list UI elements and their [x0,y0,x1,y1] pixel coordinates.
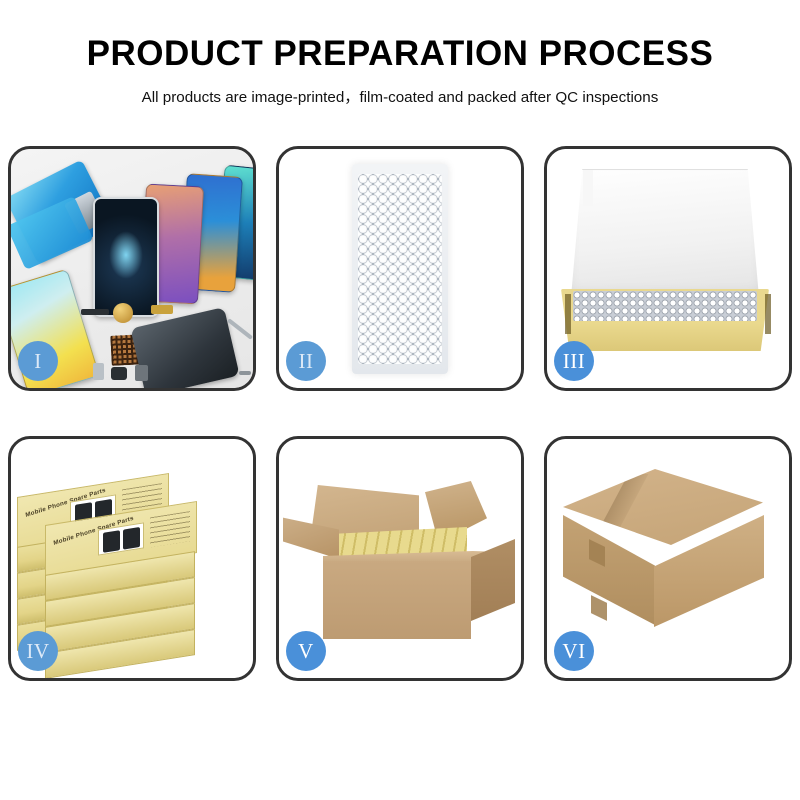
sim-tray-icon [93,363,104,380]
open-carton-illustration: V [279,439,521,678]
phone-screen-black-icon [93,197,159,317]
connector-icon [151,305,173,314]
box-stack: Mobile Phone Spare Parts Mobile Phone Sp… [15,461,247,661]
bubble-wrap-pouch-icon [352,164,448,374]
box-lid-icon [571,169,759,297]
step-badge-1: I [18,341,58,381]
stacked-boxes-illustration: Mobile Phone Spare Parts Mobile Phone Sp… [11,439,253,678]
process-step-card-1: I [8,146,256,391]
flex-cable-icon [81,309,109,315]
step-badge-2: II [286,341,326,381]
step-badge-3: III [554,341,594,381]
process-step-card-5: V [276,436,524,681]
page-subtitle: All products are image-printed，film-coat… [0,85,800,107]
step-badge-6: VI [554,631,594,671]
wrapped-products-in-tray [573,291,757,321]
page-title: PRODUCT PREPARATION PROCESS [0,36,800,73]
speaker-module-icon [111,367,127,380]
page-header: PRODUCT PREPARATION PROCESS All products… [0,0,800,107]
process-steps-grid: I II III [8,146,792,726]
step-badge-4: IV [18,631,58,671]
bubble-texture [358,174,442,364]
bubble-wrap-illustration: II [279,149,521,388]
camera-module-icon [135,365,148,381]
tray-edge-left [565,294,571,334]
step-badge-5: V [286,631,326,671]
copper-coil-icon [113,303,133,323]
open-inner-box-illustration: III [547,149,789,388]
sealed-carton-illustration: VI [547,439,789,678]
screw-set-icon [239,371,251,375]
phone-parts-illustration: I [11,149,253,388]
product-preparation-process-page: PRODUCT PREPARATION PROCESS All products… [0,0,800,800]
carton-tape-lower [591,595,607,621]
retail-box-spec-lines-front [150,511,190,547]
tray-edge-right [765,294,771,334]
carton-front-face [323,561,471,639]
process-step-card-3: III [544,146,792,391]
process-step-card-4: Mobile Phone Spare Parts Mobile Phone Sp… [8,436,256,681]
process-step-card-2: II [276,146,524,391]
process-step-card-6: VI [544,436,792,681]
